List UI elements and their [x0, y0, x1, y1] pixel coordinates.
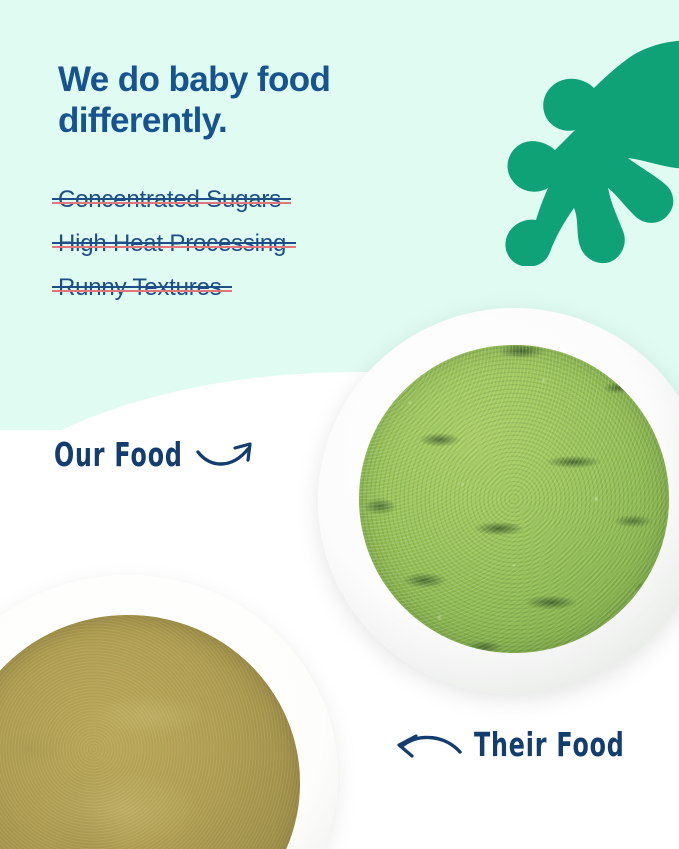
arrow-curved-right-icon: [196, 436, 258, 474]
poster-canvas: We do baby food differently. Concentrate…: [0, 0, 679, 849]
arrow-curved-left-icon: [392, 726, 464, 764]
green-puree-grain: [359, 345, 669, 654]
our-food-label: Our Food: [54, 436, 183, 474]
their-food-bowl: [0, 575, 338, 849]
photo-layer: [0, 0, 679, 849]
their-food-label: Their Food: [474, 726, 625, 764]
tan-puree: [0, 615, 300, 849]
our-food-bowl: [318, 308, 679, 694]
green-puree: [359, 345, 669, 654]
tan-puree-sheen: [0, 615, 300, 849]
